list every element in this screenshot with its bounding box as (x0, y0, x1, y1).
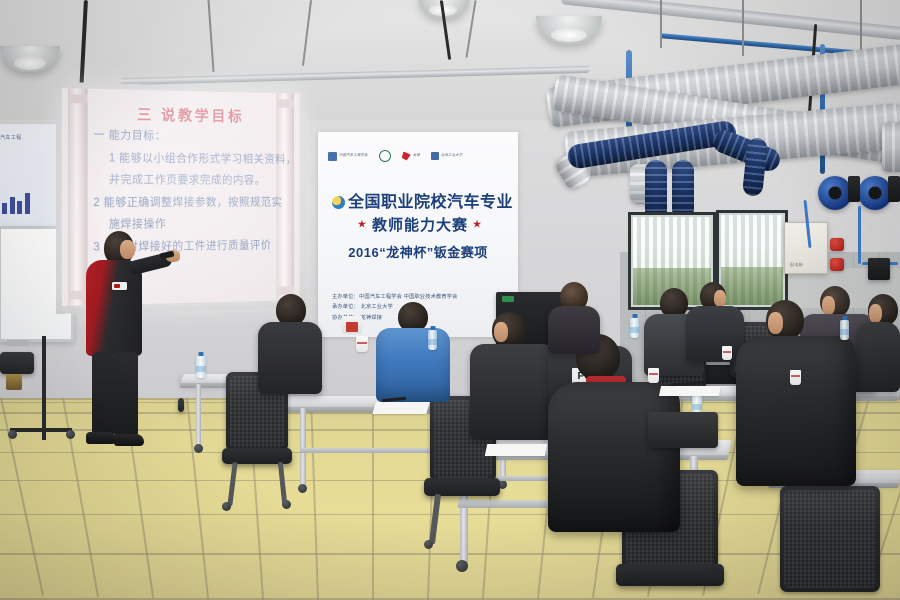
slide-line: 一 能力目标： (93, 130, 285, 144)
whiteboard-tray (7, 340, 29, 346)
caster-wheel (424, 540, 433, 549)
banner-logo-row: 中国汽车工程学会 龙神 北京工业大学 (328, 148, 508, 164)
presenter-pants-right (114, 352, 138, 438)
presenter-shoe (86, 432, 116, 444)
wooden-box (6, 374, 22, 390)
star-icon: ★ (473, 219, 482, 229)
attendee-face (494, 322, 508, 342)
caster-wheel (298, 484, 307, 493)
table-leg (196, 384, 201, 446)
fume-extraction-arm (672, 160, 694, 220)
poster-heading: 汽车工程 (0, 134, 22, 141)
paper-sheet (372, 402, 429, 414)
caster-wheel (66, 430, 75, 439)
red-container (346, 322, 358, 332)
green-label (502, 296, 514, 302)
air-hose (858, 206, 861, 264)
caster-wheel (222, 502, 231, 511)
attendee-body-blue-jacket (376, 328, 450, 402)
hose-reel-bracket (888, 176, 900, 202)
water-bottle (840, 320, 849, 340)
attendee-body-puffer (736, 336, 856, 486)
slide-line: 施焊接操作 (93, 219, 285, 231)
china-sae-logo-icon: 中国汽车工程学会 (328, 152, 368, 161)
banner-title-line3: 2016“龙神杯”钣金赛项 (328, 242, 508, 261)
water-bottle (196, 356, 206, 378)
laptop-bag (648, 412, 718, 448)
banner-title-line2: ★教师能力大赛★ (332, 214, 508, 235)
banner-emblem-icon (332, 196, 345, 209)
paper-cup (722, 346, 732, 360)
hose-reel (858, 176, 892, 210)
star-icon: ★ (358, 219, 367, 229)
banner-title-line1: 全国职业院校汽车专业 (332, 188, 508, 212)
air-duct-end (882, 122, 900, 172)
hanger-rod (660, 0, 662, 48)
paper-sheet (659, 386, 721, 396)
table-leg (300, 408, 306, 486)
slide-column-left (68, 88, 88, 306)
floor-grid-line (0, 553, 900, 555)
floor-grid-line (0, 514, 900, 516)
longshen-logo-icon: 龙神 (402, 152, 420, 161)
attendee-body (686, 306, 744, 362)
caster-wheel (456, 560, 468, 572)
hose-reel-bracket (848, 176, 860, 202)
circle-emblem-logo-icon (379, 150, 391, 162)
water-bottle (428, 330, 437, 350)
valve-unit (868, 258, 890, 280)
attendee-face (822, 296, 835, 315)
slide-title: 三 说教学目标 (101, 103, 278, 127)
paper-cup (790, 370, 801, 385)
attendee-body (258, 322, 322, 394)
hanger-rod (742, 0, 744, 56)
paper-cup (356, 336, 368, 352)
presenter-shoe (114, 434, 144, 446)
caster-wheel (282, 500, 291, 509)
power-socket (830, 238, 844, 251)
poster-graphic (2, 193, 30, 214)
whiteboard-stand-base (10, 428, 72, 432)
slide-line: 1 能够以小组合作形式学习相关资料， (93, 153, 285, 166)
attendee-face (768, 312, 783, 334)
presenter-badge (112, 282, 127, 290)
chair (780, 486, 880, 592)
attendee-body-puffer (548, 382, 680, 532)
water-bottle (630, 318, 639, 338)
slide-line: 并完成工作页要求完成的内容。 (93, 175, 285, 187)
university-logo-icon: 北京工业大学 (431, 152, 463, 160)
whiteboard-stand-leg (42, 336, 46, 440)
photo-scene: 配电箱 汽车工程 三 说教学目标 一 能力目标： 1 能够以小组合作形式学习相关… (0, 0, 900, 600)
hanger-rod (860, 0, 862, 50)
caster-wheel (194, 444, 203, 453)
attendee-body (548, 306, 600, 354)
organizer-line: 主办单位：中国汽车工程学会 中国职业技术教育学会 (332, 292, 508, 302)
attendee-body (470, 344, 556, 440)
chair-seat (616, 564, 724, 586)
equipment-bag (0, 352, 34, 374)
attendee-face (869, 304, 882, 323)
floor-grid-line (0, 598, 900, 600)
caster-wheel (8, 430, 17, 439)
hose-reel (818, 176, 852, 210)
slide-line: 2 能够正确调整焊接参数，按照规范实 (93, 197, 285, 208)
small-bag (178, 398, 184, 412)
wall-poster: 汽车工程 (0, 124, 58, 228)
presenter-pants-left (92, 352, 114, 438)
attendee-head (492, 312, 526, 348)
floor-grid-line (372, 398, 374, 600)
window (716, 210, 788, 310)
power-socket (830, 258, 844, 271)
attendee-face (714, 290, 726, 307)
paper-cup (648, 368, 659, 383)
paper-sheet (485, 444, 548, 456)
attendee-head (766, 300, 804, 340)
presenter-face (120, 240, 135, 259)
attendee-body (856, 322, 900, 392)
